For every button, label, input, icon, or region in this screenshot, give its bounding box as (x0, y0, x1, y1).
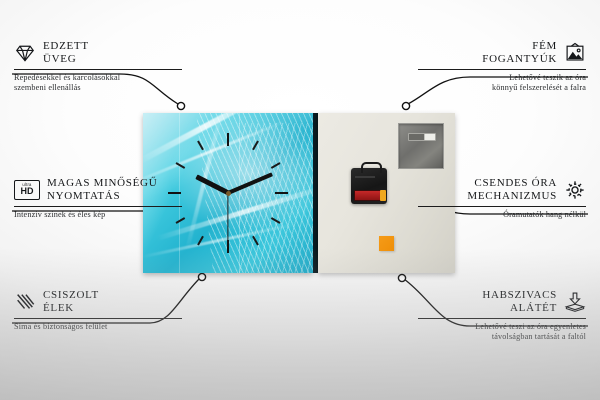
feature-title-line2: MECHANIZMUS (467, 190, 557, 202)
feature-subtitle-line1: Lehetővé teszi az óra egyenletes (475, 322, 586, 331)
feature-subtitle: Lehetővé teszi az óra egyenletes távolsá… (418, 322, 586, 342)
mechanism-detail (355, 176, 375, 178)
feature-header: FÉM FOGANTYÚK (418, 40, 586, 65)
feature-title-line1: FÉM (532, 40, 557, 52)
metal-hanger-part (398, 123, 444, 169)
clock-mechanism-part (351, 168, 387, 204)
feature-foam-pad: HABSZIVACS ALÁTÉT Lehetővé teszi az óra … (418, 289, 586, 342)
feature-title: FÉM FOGANTYÚK (482, 40, 557, 65)
feature-divider (418, 318, 586, 319)
feature-subtitle-line2: könnyű felszerelését a falra (492, 83, 586, 92)
feature-divider (418, 69, 586, 70)
feature-title-line1: MAGAS MINŐSÉGŰ (47, 177, 157, 189)
feature-title-line2: ÜVEG (43, 53, 76, 65)
feature-polished-edges: CSISZOLT ÉLEK Sima és biztonságos felüle… (14, 289, 182, 332)
feature-title-line1: CSENDES ÓRA (474, 177, 557, 189)
feature-title-line1: EDZETT (43, 40, 89, 52)
feature-title-line1: HABSZIVACS (482, 289, 557, 301)
connector-dot-glass (177, 102, 184, 109)
feature-title: EDZETT ÜVEG (43, 40, 89, 65)
foam-pad-arrow-icon (564, 291, 586, 313)
hanger-slot (408, 133, 436, 141)
feature-subtitle-line1: Sima és biztonságos felület (14, 322, 107, 331)
picture-frame-hook-icon (564, 42, 586, 64)
gear-icon (564, 179, 586, 201)
clock-center-pin (226, 191, 231, 196)
feature-subtitle-line1: Repedésekkel és karcolásokkal (14, 73, 120, 82)
feature-subtitle-line2: távolságban tartását a faltól (492, 332, 586, 341)
diamond-icon (14, 42, 36, 64)
product-image (143, 113, 455, 273)
feature-title-line2: ALÁTÉT (510, 302, 557, 314)
connector-dot-hanger (402, 102, 409, 109)
feature-header: EDZETT ÜVEG (14, 40, 182, 65)
polished-edges-icon (14, 291, 36, 313)
feature-title: CSENDES ÓRA MECHANIZMUS (467, 177, 557, 202)
feature-title-line1: CSISZOLT (43, 289, 99, 301)
feature-subtitle: Óramutatók hang nélkül (418, 210, 586, 220)
connector-dot-foam (398, 274, 405, 281)
feature-header: CSISZOLT ÉLEK (14, 289, 182, 314)
feature-title-line2: NYOMTATÁS (47, 190, 120, 202)
feature-title-line2: ÉLEK (43, 302, 74, 314)
mechanism-hook (361, 162, 382, 173)
ultra-hd-badge-icon: ultra HD (14, 180, 40, 200)
feature-hd-print: ultra HD MAGAS MINŐSÉGŰ NYOMTATÁS Intenz… (14, 177, 182, 220)
feature-title-line2: FOGANTYÚK (482, 53, 557, 65)
feature-subtitle-line2: szembeni ellenállás (14, 83, 81, 92)
feature-header: ultra HD MAGAS MINŐSÉGŰ NYOMTATÁS (14, 177, 182, 202)
feature-silent-movement: CSENDES ÓRA MECHANIZMUS Óramutatók hang … (418, 177, 586, 220)
feature-subtitle-line1: Intenzív színek és éles kép (14, 210, 105, 219)
feature-divider (14, 69, 182, 70)
feature-subtitle-line1: Óramutatók hang nélkül (503, 210, 586, 219)
feature-subtitle: Intenzív színek és éles kép (14, 210, 182, 220)
feature-title: CSISZOLT ÉLEK (43, 289, 99, 314)
feature-header: CSENDES ÓRA MECHANIZMUS (418, 177, 586, 202)
feature-header: HABSZIVACS ALÁTÉT (418, 289, 586, 314)
feature-subtitle: Lehetővé teszik az óra könnyű felszerelé… (418, 73, 586, 93)
feature-title: MAGAS MINŐSÉGŰ NYOMTATÁS (47, 177, 157, 202)
connector-dot-edges (198, 273, 205, 280)
feature-tempered-glass: EDZETT ÜVEG Repedésekkel és karcolásokka… (14, 40, 182, 93)
feature-title: HABSZIVACS ALÁTÉT (482, 289, 557, 314)
foam-pad-part (379, 236, 394, 251)
feature-subtitle-line1: Lehetővé teszik az óra (509, 73, 586, 82)
infographic-canvas: EDZETT ÜVEG Repedésekkel és karcolásokka… (0, 0, 600, 400)
battery (354, 190, 386, 201)
feature-metal-handles: FÉM FOGANTYÚK Lehetővé teszik az óra kön… (418, 40, 586, 93)
feature-subtitle: Repedésekkel és karcolásokkal szembeni e… (14, 73, 182, 93)
feature-divider (14, 318, 182, 319)
feature-divider (14, 206, 182, 207)
badge-large-text: HD (21, 187, 34, 196)
feature-subtitle: Sima és biztonságos felület (14, 322, 182, 332)
feature-divider (418, 206, 586, 207)
